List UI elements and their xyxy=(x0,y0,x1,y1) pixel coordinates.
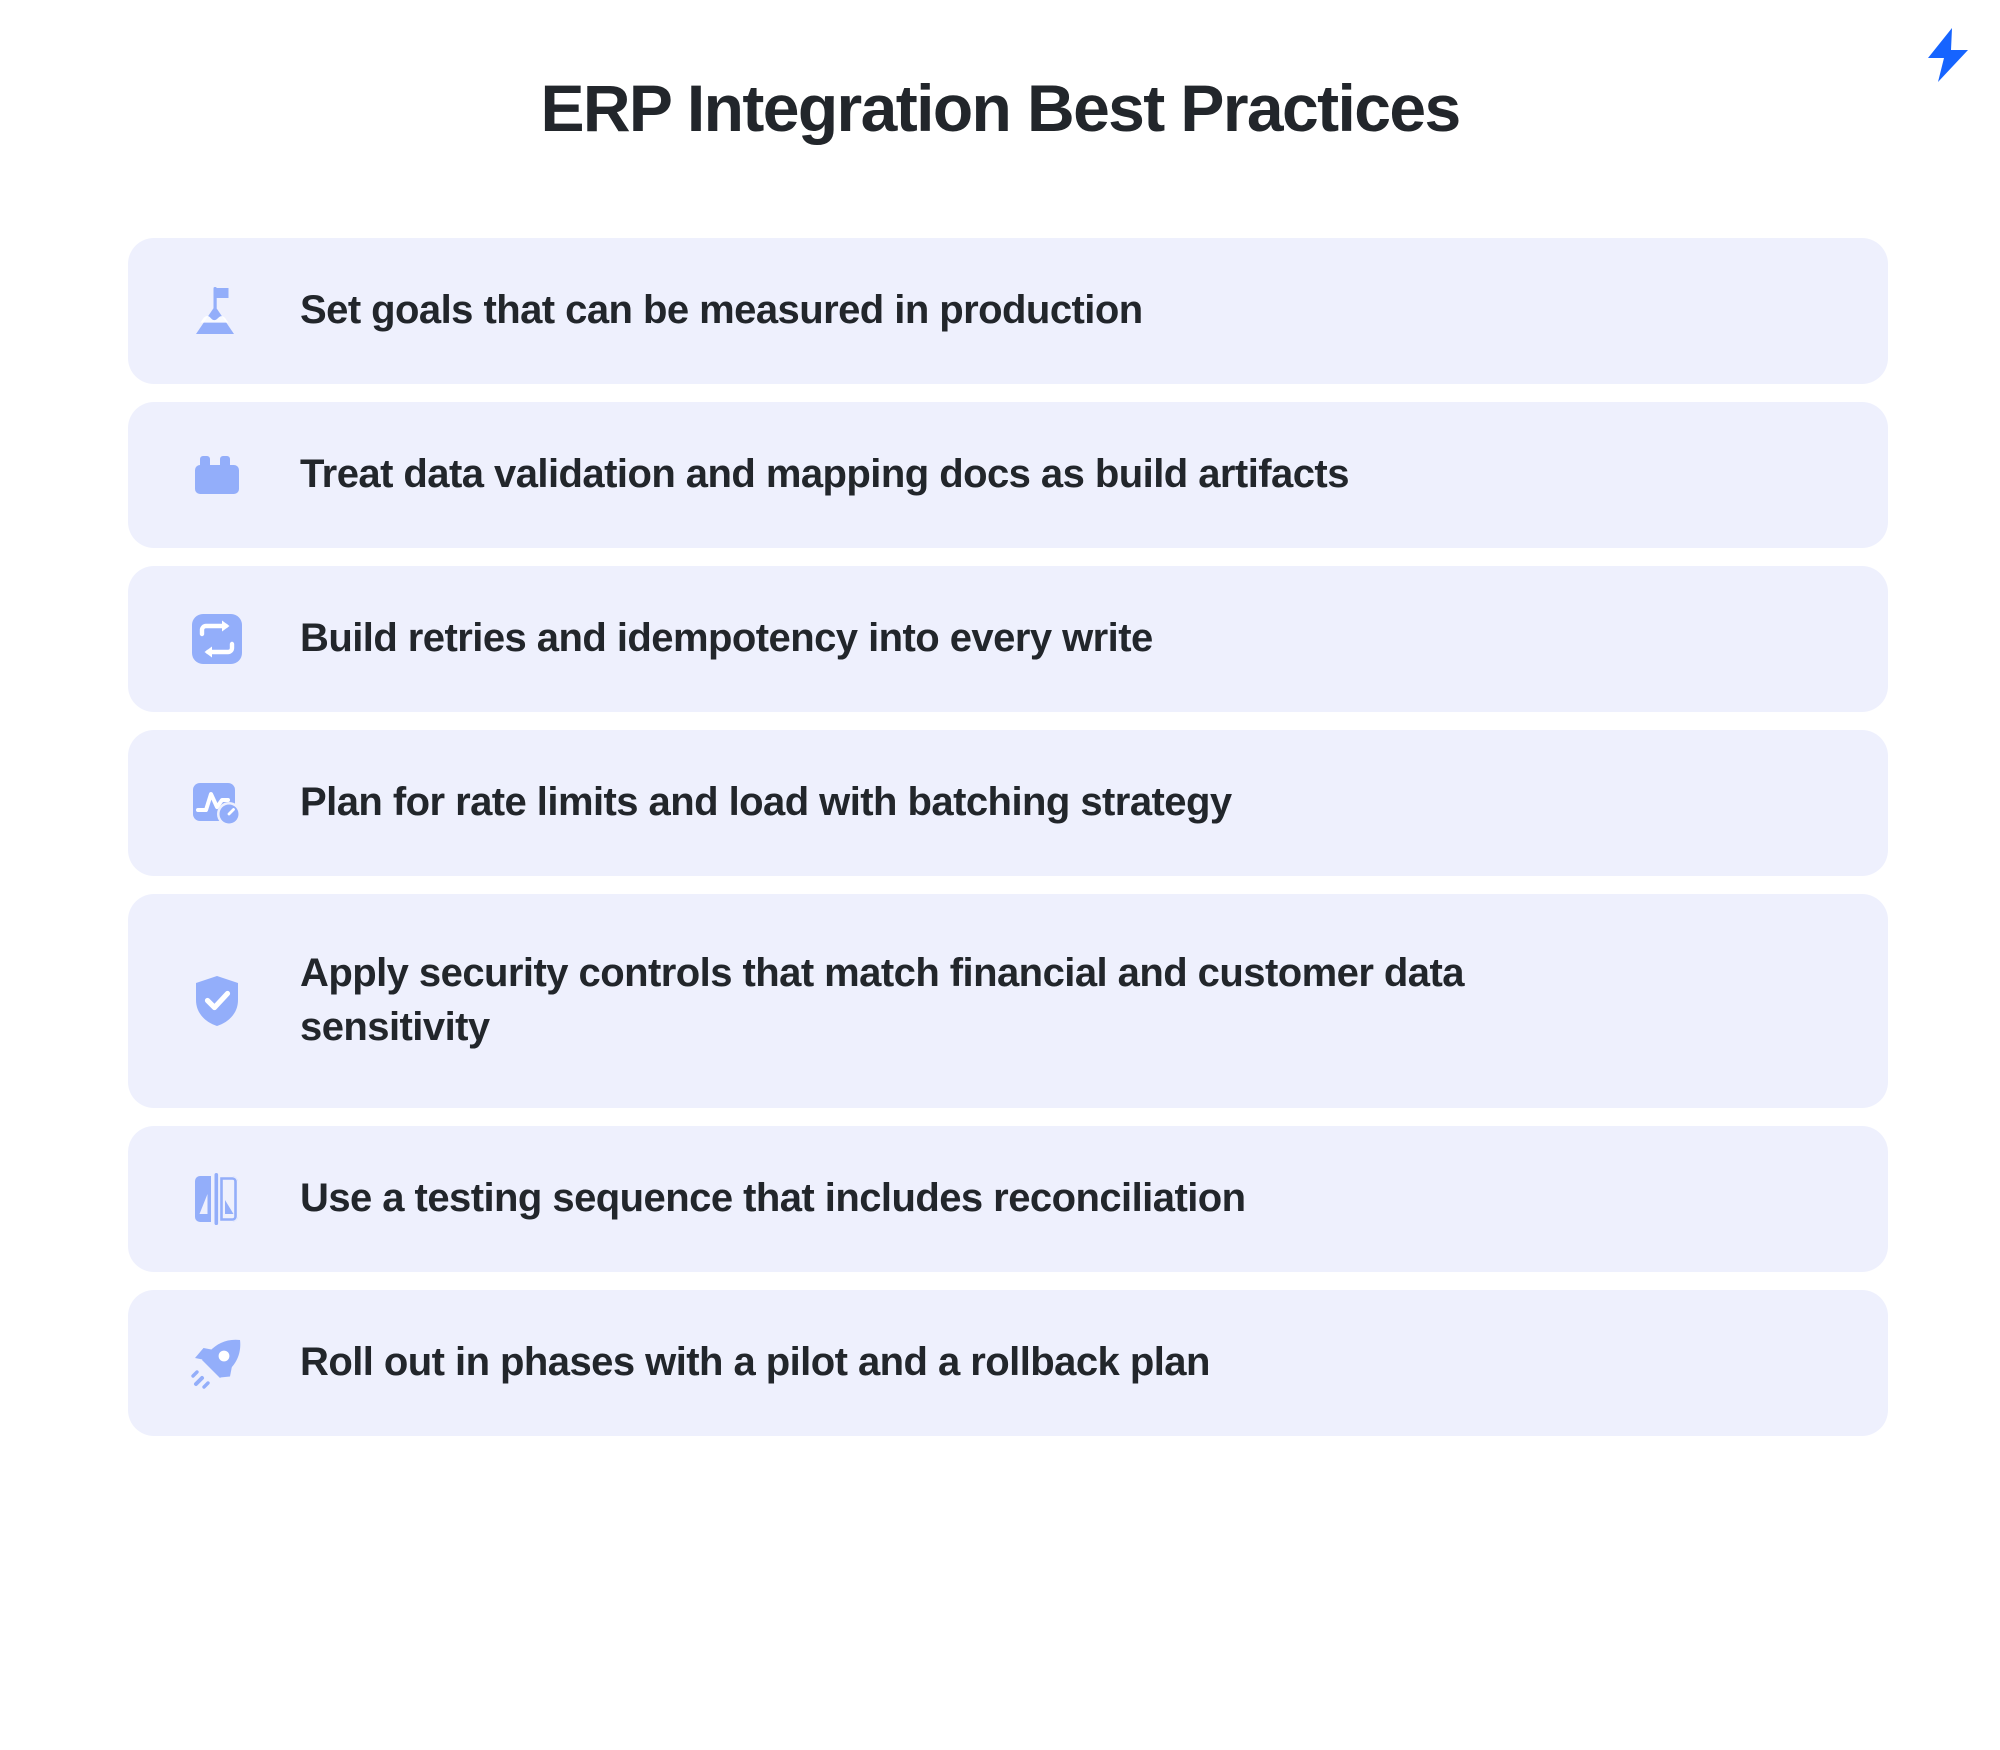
list-item[interactable]: Roll out in phases with a pilot and a ro… xyxy=(128,1290,1888,1436)
best-practices-list: Set goals that can be measured in produc… xyxy=(128,238,1888,1436)
mountain-flag-icon xyxy=(186,280,248,342)
list-item[interactable]: Apply security controls that match finan… xyxy=(128,894,1888,1108)
list-item-label: Roll out in phases with a pilot and a ro… xyxy=(300,1336,1210,1390)
list-item[interactable]: Treat data validation and mapping docs a… xyxy=(128,402,1888,548)
list-item-label: Plan for rate limits and load with batch… xyxy=(300,776,1232,830)
infographic-page: ERP Integration Best Practices Set goals… xyxy=(0,0,2000,1750)
list-item[interactable]: Plan for rate limits and load with batch… xyxy=(128,730,1888,876)
list-item-label: Use a testing sequence that includes rec… xyxy=(300,1172,1246,1226)
page-title: ERP Integration Best Practices xyxy=(0,72,2000,146)
rocket-icon xyxy=(186,1332,248,1394)
list-item-label: Build retries and idempotency into every… xyxy=(300,612,1153,666)
building-block-icon xyxy=(186,444,248,506)
list-item[interactable]: Use a testing sequence that includes rec… xyxy=(128,1126,1888,1272)
flip-compare-icon xyxy=(186,1168,248,1230)
list-item[interactable]: Build retries and idempotency into every… xyxy=(128,566,1888,712)
list-item-label: Treat data validation and mapping docs a… xyxy=(300,448,1349,502)
chart-clock-icon xyxy=(186,772,248,834)
list-item[interactable]: Set goals that can be measured in produc… xyxy=(128,238,1888,384)
shield-check-icon xyxy=(186,970,248,1032)
list-item-label: Apply security controls that match finan… xyxy=(300,947,1600,1054)
list-item-label: Set goals that can be measured in produc… xyxy=(300,284,1143,338)
repeat-loop-icon xyxy=(186,608,248,670)
